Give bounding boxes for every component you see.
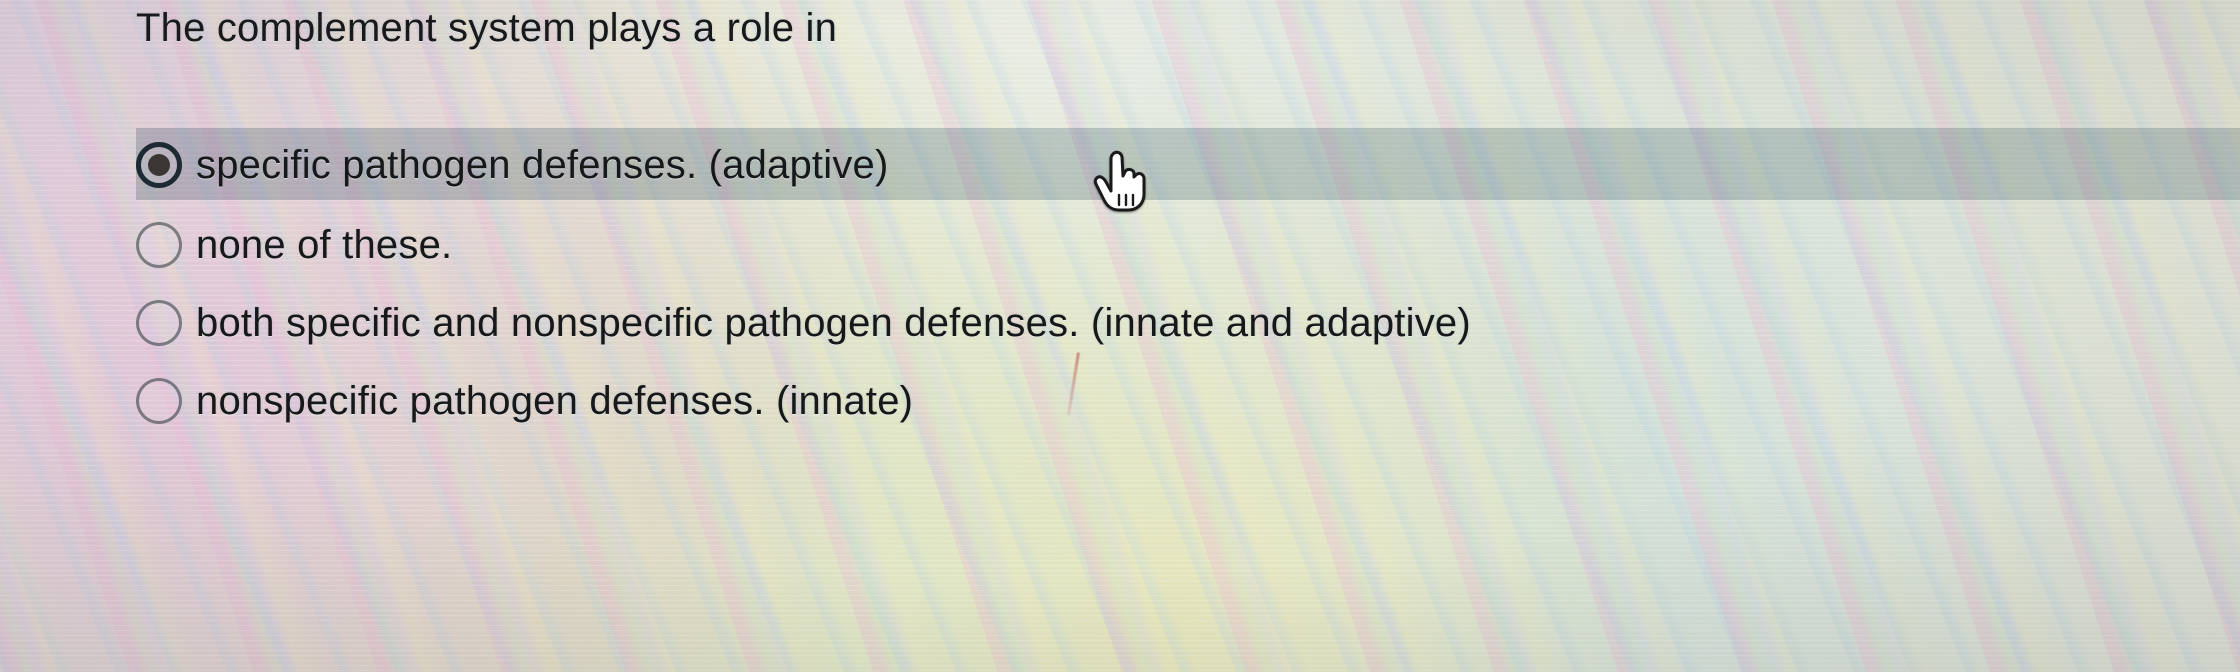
ink-mark bbox=[1067, 352, 1080, 416]
radio-button-d[interactable] bbox=[136, 378, 182, 424]
radio-button-a-selected[interactable] bbox=[136, 142, 182, 188]
option-label-d: nonspecific pathogen defenses. (innate) bbox=[196, 381, 913, 421]
option-row-d[interactable]: nonspecific pathogen defenses. (innate) bbox=[136, 378, 913, 424]
option-row-c[interactable]: both specific and nonspecific pathogen d… bbox=[136, 300, 1471, 346]
quiz-question-panel: The complement system plays a role in sp… bbox=[0, 0, 2240, 672]
radio-button-b[interactable] bbox=[136, 222, 182, 268]
question-text: The complement system plays a role in bbox=[136, 6, 837, 51]
radio-button-c[interactable] bbox=[136, 300, 182, 346]
option-row-a[interactable]: specific pathogen defenses. (adaptive) bbox=[136, 142, 888, 188]
photographed-screen: The complement system plays a role in sp… bbox=[0, 0, 2240, 672]
option-label-c: both specific and nonspecific pathogen d… bbox=[196, 303, 1471, 343]
option-label-b: none of these. bbox=[196, 225, 452, 265]
option-label-a: specific pathogen defenses. (adaptive) bbox=[196, 145, 888, 185]
pointing-hand-cursor bbox=[1093, 150, 1147, 212]
option-row-b[interactable]: none of these. bbox=[136, 222, 452, 268]
